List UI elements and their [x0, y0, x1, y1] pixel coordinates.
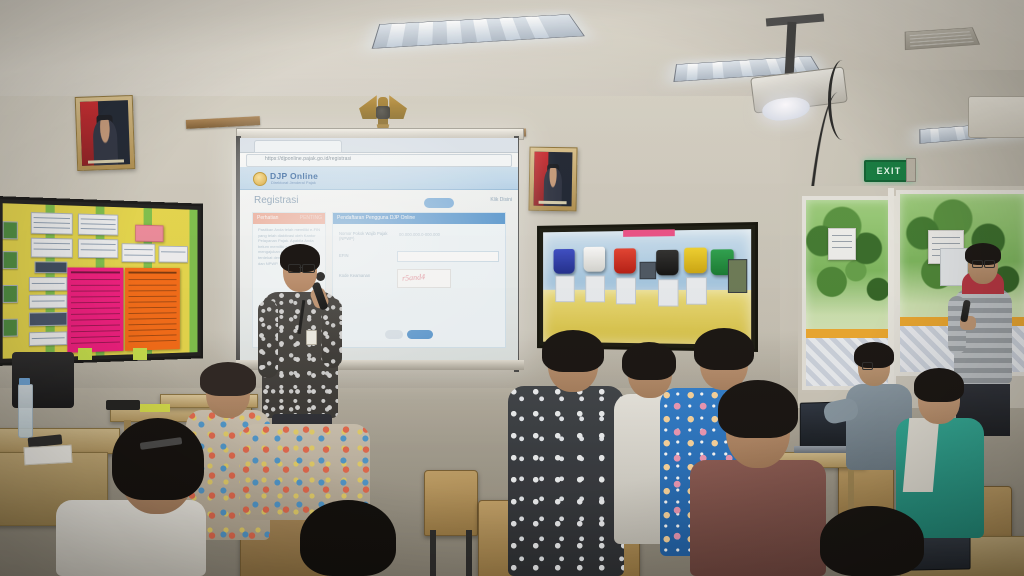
red-cup: [614, 248, 636, 273]
poster-orange: [125, 268, 180, 351]
participant-hair: [200, 362, 256, 396]
exit-sign-label: EXIT: [877, 166, 902, 176]
unit-title-card: [135, 225, 163, 242]
batik-shirt: [508, 386, 624, 576]
participant-hair: [694, 328, 754, 370]
glasses-left-lens: [972, 260, 983, 268]
chair-leg: [466, 530, 472, 576]
participant-hair: [914, 368, 964, 402]
browser-tab-bar: [240, 138, 518, 153]
form-panel-title: Pendaftaran Pengguna DJP Online: [337, 215, 415, 221]
form-panel-header: Pendaftaran Pengguna DJP Online: [333, 213, 505, 224]
page-title: Registrasi: [254, 195, 298, 206]
attention-note: PENTING: [300, 215, 322, 221]
microphone-head: [316, 272, 325, 281]
black-cup: [656, 250, 678, 276]
chair-leg: [430, 530, 436, 576]
chair[interactable]: [424, 470, 478, 536]
registration-form-panel: Pendaftaran Pengguna DJP Online Nomor Po…: [332, 212, 506, 348]
white-top: [56, 500, 206, 576]
browser-address-bar[interactable]: https://djponline.pajak.go.id/registrasi: [246, 154, 512, 167]
npwp-value: 00.000.000.0-000.000: [399, 232, 469, 237]
window-notice: [828, 228, 856, 260]
site-header: DJP Online Direktorat Jenderal Pajak: [240, 167, 518, 190]
participant-hair: [542, 330, 604, 372]
glasses-right-lens: [302, 264, 315, 273]
browser-url-text: https://djponline.pajak.go.id/registrasi: [265, 156, 351, 162]
air-conditioner-unit: [968, 96, 1024, 138]
presenter-arm-left: [258, 300, 278, 378]
water-bottle: [18, 384, 33, 438]
captcha-image: r5and4: [397, 269, 451, 288]
attention-panel-header: Perhatian PENTING: [253, 213, 325, 224]
participant-hair: [854, 342, 894, 368]
poster-pink: [67, 267, 123, 352]
login-button[interactable]: [424, 198, 454, 208]
label-slip: [616, 277, 636, 304]
participant-hair: [718, 380, 798, 438]
efin-input[interactable]: [397, 251, 499, 262]
tag-green-left: [78, 348, 92, 360]
blue-cup: [554, 249, 575, 274]
glasses-bridge: [299, 267, 302, 268]
captcha-label: Kode Keamanan: [339, 273, 391, 278]
board-photo: [728, 259, 747, 293]
portrait-vice-president: [528, 147, 577, 212]
bottle-cap: [19, 378, 30, 385]
board-photo: [640, 262, 657, 280]
site-brand-subtitle: Direktorat Jenderal Pajak: [271, 180, 316, 185]
exit-sign-bracket: [906, 158, 916, 182]
captcha-text: r5and4: [402, 272, 426, 283]
yellow-card: [140, 404, 170, 412]
portrait-president: [75, 95, 136, 171]
desk-device: [106, 400, 140, 410]
participant-hair: [820, 506, 924, 576]
classroom-photo: EXIT https://djponline.pajak.go.id/regis…: [0, 0, 1024, 576]
djp-logo-icon: [253, 172, 267, 186]
glasses-left-lens: [862, 362, 873, 370]
yellow-cup: [684, 248, 707, 274]
tag-green-right: [133, 348, 147, 360]
desk-papers: [24, 445, 73, 465]
bulletin-board-left: [0, 196, 203, 366]
glasses-left-lens: [288, 264, 301, 273]
top-link[interactable]: Klik Disini: [490, 197, 512, 203]
maroon-shirt: [690, 460, 826, 576]
verify-button[interactable]: [407, 330, 433, 339]
participant-hair: [300, 500, 396, 576]
participant-hair: [622, 342, 676, 380]
standing-hair: [965, 243, 1001, 265]
label-slip: [585, 275, 605, 302]
npwp-label: Nomor Pokok Wajib Pajak (NPWP): [339, 231, 391, 242]
label-slip: [555, 276, 574, 303]
attention-title: Perhatian: [257, 215, 278, 221]
reset-button[interactable]: [385, 330, 403, 339]
id-badge: [306, 330, 317, 345]
board-banner: [623, 229, 675, 237]
efin-label: EFIN: [339, 253, 349, 258]
glasses-right-lens: [984, 260, 995, 268]
participant-hair: [112, 418, 204, 500]
label-slip: [658, 279, 679, 306]
white-cup: [584, 247, 605, 272]
label-slip: [686, 277, 707, 305]
browser-tab[interactable]: [254, 140, 342, 153]
